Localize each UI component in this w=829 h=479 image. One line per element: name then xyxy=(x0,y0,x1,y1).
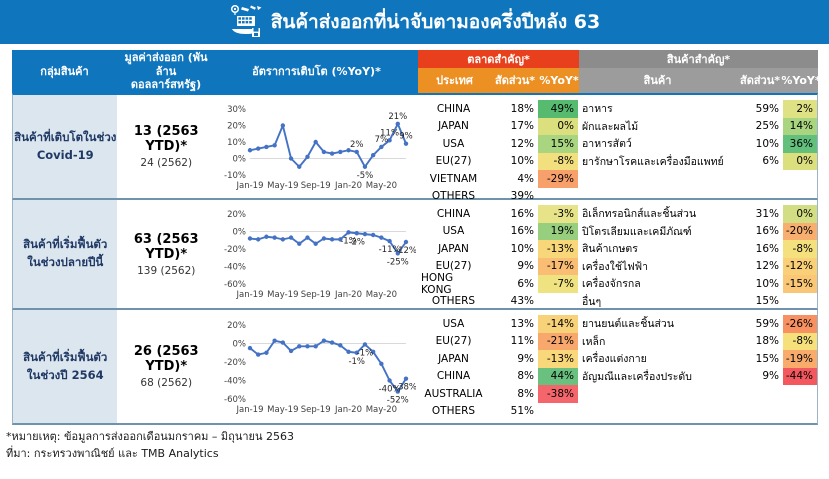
market-country: EU(27) xyxy=(417,333,490,351)
data-point xyxy=(404,376,408,380)
col-header-country: ประเทศ xyxy=(418,68,491,93)
product-share: 6% xyxy=(735,153,783,171)
y-axis-tick: 20% xyxy=(227,210,246,220)
market-share: 11% xyxy=(490,333,538,351)
product-name: อิเล็กทรอนิกส์และชิ้นส่วน xyxy=(578,205,735,223)
product-share: 59% xyxy=(735,100,783,118)
market-yoy xyxy=(538,293,578,311)
product-row: เหล็ก18%-8% xyxy=(578,333,817,351)
growth-chart-cell: 30%20%10%0%-10%2%-5%7%11%21%9%Jan-19May-… xyxy=(215,95,417,198)
market-row: OTHERS43% xyxy=(417,293,578,311)
market-country: CHINA xyxy=(417,368,490,386)
market-share: 8% xyxy=(490,385,538,403)
x-axis-tick: Jan-20 xyxy=(334,405,362,415)
data-point xyxy=(371,153,375,157)
product-row: ยานยนต์และชิ้นส่วน59%-26% xyxy=(578,315,817,333)
market-yoy: -13% xyxy=(538,240,578,258)
market-yoy: -14% xyxy=(538,315,578,333)
market-share: 10% xyxy=(490,240,538,258)
y-axis-tick: -40% xyxy=(224,376,246,386)
data-point-label: 9% xyxy=(399,131,413,141)
data-point xyxy=(363,342,367,346)
product-share: 12% xyxy=(735,258,783,276)
data-point-label: -38% xyxy=(395,382,416,392)
product-share: 31% xyxy=(735,205,783,223)
market-country: JAPAN xyxy=(417,350,490,368)
data-point xyxy=(330,151,334,155)
product-row: อาหาร59%2% xyxy=(578,100,817,118)
market-country: EU(27) xyxy=(417,153,490,171)
x-axis-tick: May-19 xyxy=(267,181,298,191)
data-point xyxy=(256,352,260,356)
export-logistics-icon xyxy=(229,4,263,40)
product-share: 18% xyxy=(735,333,783,351)
product-yoy: -15% xyxy=(783,275,817,293)
x-axis-tick: May-19 xyxy=(267,405,298,415)
table-body: สินค้าที่เติบโตในช่วงCovid-1913 (2563 YT… xyxy=(12,93,818,425)
title-bar: สินค้าส่งออกที่น่าจับตามองครึ่งปีหลัง 63 xyxy=(0,0,829,44)
y-axis-tick: 10% xyxy=(227,138,246,148)
product-group-cell: สินค้าที่เริ่มฟื้นตัวในช่วงปลายปีนี้ xyxy=(13,200,117,308)
product-row: สินค้าเกษตร16%-8% xyxy=(578,240,817,258)
col-header-export-value: มูลค่าส่งออก (พันล้าน ดอลลาร์สหรัฐ) xyxy=(117,50,215,93)
product-group-line1: สินค้าที่เริ่มฟื้นตัว xyxy=(23,236,107,254)
market-share: 4% xyxy=(490,170,538,188)
col-header-product: สินค้า xyxy=(579,68,736,93)
market-country: JAPAN xyxy=(417,118,490,136)
product-name xyxy=(578,170,735,188)
product-name: อาหาร xyxy=(578,100,735,118)
product-yoy: -12% xyxy=(783,258,817,276)
market-share: 9% xyxy=(490,258,538,276)
x-axis-tick: Jan-19 xyxy=(236,405,264,415)
market-country: CHINA xyxy=(417,205,490,223)
product-name: ผักและผลไม้ xyxy=(578,118,735,136)
x-axis-tick: Sep-19 xyxy=(301,290,331,300)
market-share: 51% xyxy=(490,403,538,421)
market-country: JAPAN xyxy=(417,240,490,258)
table-header-row: กลุ่มสินค้า มูลค่าส่งออก (พันล้าน ดอลลาร… xyxy=(12,50,818,93)
export-value-previous: 24 (2562) xyxy=(140,157,192,169)
data-point xyxy=(338,343,342,347)
data-point xyxy=(264,144,268,148)
product-group-line2: Covid-19 xyxy=(37,147,94,165)
export-value-cell: 13 (2563 YTD)*24 (2562) xyxy=(117,95,215,198)
product-name: ปิโตรเลียมและเคมีภัณฑ์ xyxy=(578,223,735,241)
key-products-subtable: ยานยนต์และชิ้นส่วน59%-26%เหล็ก18%-8%เครื… xyxy=(578,310,817,423)
product-name: อาหารสัตว์ xyxy=(578,135,735,153)
col-header-group: กลุ่มสินค้า xyxy=(12,50,117,93)
product-group-line1: สินค้าที่เติบโตในช่วง xyxy=(14,129,116,147)
x-axis-tick: Jan-20 xyxy=(334,290,362,300)
market-yoy: 15% xyxy=(538,135,578,153)
market-yoy: -17% xyxy=(538,258,578,276)
product-name: เครื่องจักรกล xyxy=(578,275,735,293)
market-row: VIETNAM4%-29% xyxy=(417,170,578,188)
export-value-previous: 139 (2562) xyxy=(137,265,195,277)
product-share: 25% xyxy=(735,118,783,136)
data-point xyxy=(272,235,276,239)
data-point xyxy=(371,233,375,237)
x-axis-tick: May-20 xyxy=(366,405,397,415)
y-axis-tick: 20% xyxy=(227,321,246,331)
table-row: สินค้าที่เริ่มฟื้นตัวในช่วงปี 256426 (25… xyxy=(12,310,818,425)
product-group-cell: สินค้าที่เริ่มฟื้นตัวในช่วงปี 2564 xyxy=(13,310,117,423)
market-row: USA12%15% xyxy=(417,135,578,153)
market-country: AUSTRALIA xyxy=(417,385,490,403)
market-share: 17% xyxy=(490,118,538,136)
product-row xyxy=(578,403,817,421)
footnote-line1: *หมายเหตุ: ข้อมูลการส่งออกเดือนมกราคม – … xyxy=(6,428,506,445)
y-axis-tick: 0% xyxy=(233,339,247,349)
product-yoy: -44% xyxy=(783,368,817,386)
market-country: OTHERS xyxy=(417,293,490,311)
growth-line-chart: 20%0%-20%-40%-60%-1%-2%-11%-25%-12%Jan-1… xyxy=(216,206,416,302)
table-row: สินค้าที่เริ่มฟื้นตัวในช่วงปลายปีนี้63 (… xyxy=(12,200,818,310)
product-name: เครื่องแต่งกาย xyxy=(578,350,735,368)
data-point xyxy=(297,164,301,168)
data-point xyxy=(313,139,317,143)
market-yoy: 49% xyxy=(538,100,578,118)
export-value-cell: 26 (2563 YTD)*68 (2562) xyxy=(117,310,215,423)
product-group-line2: ในช่วงปี 2564 xyxy=(27,367,104,385)
data-point xyxy=(248,236,252,240)
product-row: เครื่องแต่งกาย15%-19% xyxy=(578,350,817,368)
market-country: HONG KONG xyxy=(417,275,490,293)
product-name: อัญมณีและเครื่องประดับ xyxy=(578,368,735,386)
export-value-main: 26 (2563 YTD)* xyxy=(117,344,215,374)
y-axis-tick: 20% xyxy=(227,121,246,131)
data-point xyxy=(289,156,293,160)
product-yoy: -8% xyxy=(783,333,817,351)
market-row: CHINA18%49% xyxy=(417,100,578,118)
data-point xyxy=(313,344,317,348)
market-share: 18% xyxy=(490,100,538,118)
product-share: 59% xyxy=(735,315,783,333)
data-point xyxy=(256,146,260,150)
key-markets-subtable: USA13%-14%EU(27)11%-21%JAPAN9%-13%CHINA8… xyxy=(417,310,578,423)
product-row xyxy=(578,385,817,403)
product-share: 16% xyxy=(735,240,783,258)
market-row: CHINA8%44% xyxy=(417,368,578,386)
x-axis-tick: May-20 xyxy=(366,290,397,300)
market-row: EU(27)10%-8% xyxy=(417,153,578,171)
data-point xyxy=(281,237,285,241)
market-share: 13% xyxy=(490,315,538,333)
y-axis-tick: -20% xyxy=(224,245,246,255)
data-point xyxy=(363,164,367,168)
product-row: อิเล็กทรอนิกส์และชิ้นส่วน31%0% xyxy=(578,205,817,223)
data-point xyxy=(256,237,260,241)
export-value-main: 13 (2563 YTD)* xyxy=(117,124,215,154)
export-value-previous: 68 (2562) xyxy=(140,377,192,389)
x-axis-tick: May-19 xyxy=(267,290,298,300)
market-row: JAPAN9%-13% xyxy=(417,350,578,368)
x-axis-tick: Jan-19 xyxy=(236,181,264,191)
market-country: USA xyxy=(417,135,490,153)
market-yoy: -38% xyxy=(538,385,578,403)
data-point xyxy=(305,344,309,348)
market-row: OTHERS51% xyxy=(417,403,578,421)
y-axis-tick: -60% xyxy=(224,395,246,405)
data-point xyxy=(305,154,309,158)
growth-line-chart: 20%0%-20%-40%-60%-1%-1%-40%-52%-38%Jan-1… xyxy=(216,317,416,417)
data-point xyxy=(289,348,293,352)
product-row: อาหารสัตว์10%36% xyxy=(578,135,817,153)
market-yoy: -13% xyxy=(538,350,578,368)
market-yoy: -29% xyxy=(538,170,578,188)
key-products-subtable: อาหาร59%2%ผักและผลไม้25%14%อาหารสัตว์10%… xyxy=(578,95,817,198)
product-row: เครื่องจักรกล10%-15% xyxy=(578,275,817,293)
data-point xyxy=(355,149,359,153)
data-point xyxy=(297,344,301,348)
product-yoy: -8% xyxy=(783,240,817,258)
x-axis-tick: May-20 xyxy=(366,181,397,191)
market-share: 43% xyxy=(490,293,538,311)
product-yoy: 0% xyxy=(783,153,817,171)
export-value-main: 63 (2563 YTD)* xyxy=(117,232,215,262)
product-yoy: 14% xyxy=(783,118,817,136)
product-yoy xyxy=(783,385,817,403)
product-share xyxy=(735,170,783,188)
market-row: EU(27)11%-21% xyxy=(417,333,578,351)
data-point xyxy=(379,235,383,239)
product-name xyxy=(578,385,735,403)
footnote-line2: ที่มา: กระทรวงพาณิชย์ และ TMB Analytics xyxy=(6,445,506,462)
data-point xyxy=(322,236,326,240)
product-group-label: สินค้าสำคัญ* xyxy=(579,50,818,68)
data-point xyxy=(305,235,309,239)
data-point xyxy=(379,144,383,148)
market-row: USA16%19% xyxy=(417,223,578,241)
data-point xyxy=(281,123,285,127)
col-header-market-share: สัดส่วน* xyxy=(491,68,539,93)
data-point xyxy=(404,240,408,244)
col-header-export-value-line2: ดอลลาร์สหรัฐ) xyxy=(117,78,215,92)
y-axis-tick: -10% xyxy=(224,171,246,181)
market-country: VIETNAM xyxy=(417,170,490,188)
data-point xyxy=(387,239,391,243)
market-row: USA13%-14% xyxy=(417,315,578,333)
product-group-cell: สินค้าที่เติบโตในช่วงCovid-19 xyxy=(13,95,117,198)
product-group-line2: ในช่วงปลายปีนี้ xyxy=(27,254,103,272)
product-yoy: 0% xyxy=(783,205,817,223)
product-group-line1: สินค้าที่เริ่มฟื้นตัว xyxy=(23,349,107,367)
product-row xyxy=(578,170,817,188)
market-country: USA xyxy=(417,223,490,241)
col-header-growth: อัตราการเติบโต (%YoY)* xyxy=(215,50,418,93)
market-share: 8% xyxy=(490,368,538,386)
y-axis-tick: -60% xyxy=(224,280,246,290)
data-point xyxy=(404,141,408,145)
data-point xyxy=(313,242,317,246)
product-share xyxy=(735,403,783,421)
table-row: สินค้าที่เติบโตในช่วงCovid-1913 (2563 YT… xyxy=(12,93,818,200)
y-axis-tick: 0% xyxy=(233,154,247,164)
data-point-label: 2% xyxy=(350,139,364,149)
market-share: 6% xyxy=(490,275,538,293)
col-header-market-yoy: %YoY* xyxy=(539,68,579,93)
market-share: 16% xyxy=(490,205,538,223)
market-yoy: -3% xyxy=(538,205,578,223)
product-name xyxy=(578,403,735,421)
data-point xyxy=(322,338,326,342)
data-point-label: -2% xyxy=(348,237,365,247)
y-axis-tick: 0% xyxy=(233,228,247,238)
x-axis-tick: Jan-19 xyxy=(236,290,264,300)
x-axis-tick: Sep-19 xyxy=(301,181,331,191)
product-name: เหล็ก xyxy=(578,333,735,351)
data-point xyxy=(297,242,301,246)
market-row: CHINA16%-3% xyxy=(417,205,578,223)
data-point xyxy=(264,350,268,354)
data-point xyxy=(289,235,293,239)
market-yoy: 19% xyxy=(538,223,578,241)
product-share xyxy=(735,385,783,403)
product-share: 15% xyxy=(735,293,783,311)
market-country: CHINA xyxy=(417,100,490,118)
data-point xyxy=(346,230,350,234)
data-point xyxy=(272,338,276,342)
product-share: 16% xyxy=(735,223,783,241)
col-header-market-group: ตลาดสำคัญ* ประเทศ สัดส่วน* %YoY* xyxy=(418,50,579,93)
data-point xyxy=(248,148,252,152)
product-share: 10% xyxy=(735,275,783,293)
product-yoy xyxy=(783,170,817,188)
market-group-label: ตลาดสำคัญ* xyxy=(418,50,579,68)
data-point xyxy=(396,121,400,125)
export-value-cell: 63 (2563 YTD)*139 (2562) xyxy=(117,200,215,308)
data-point xyxy=(379,361,383,365)
product-share: 9% xyxy=(735,368,783,386)
product-name: เครื่องใช้ไฟฟ้า xyxy=(578,258,735,276)
data-point-label: -1% xyxy=(357,348,374,358)
growth-line-chart: 30%20%10%0%-10%2%-5%7%11%21%9%Jan-19May-… xyxy=(216,101,416,193)
key-markets-subtable: CHINA18%49%JAPAN17%0%USA12%15%EU(27)10%-… xyxy=(417,95,578,198)
y-axis-tick: -40% xyxy=(224,263,246,273)
market-share: 9% xyxy=(490,350,538,368)
x-axis-tick: Sep-19 xyxy=(301,405,331,415)
product-yoy: -19% xyxy=(783,350,817,368)
x-axis-tick: Jan-20 xyxy=(334,181,362,191)
product-name: สินค้าเกษตร xyxy=(578,240,735,258)
y-axis-tick: -20% xyxy=(224,358,246,368)
market-yoy xyxy=(538,403,578,421)
market-row: JAPAN10%-13% xyxy=(417,240,578,258)
data-point xyxy=(346,349,350,353)
product-row: ปิโตรเลียมและเคมีภัณฑ์16%-20% xyxy=(578,223,817,241)
market-yoy: -7% xyxy=(538,275,578,293)
market-row: AUSTRALIA8%-38% xyxy=(417,385,578,403)
growth-chart-cell: 20%0%-20%-40%-60%-1%-1%-40%-52%-38%Jan-1… xyxy=(215,310,417,423)
product-name: ยารักษาโรคและเครื่องมือแพทย์ xyxy=(578,153,735,171)
col-header-product-yoy: %YoY* xyxy=(784,68,818,93)
data-point xyxy=(355,231,359,235)
product-yoy: -26% xyxy=(783,315,817,333)
product-row: เครื่องใช้ไฟฟ้า12%-12% xyxy=(578,258,817,276)
data-point-label: 11% xyxy=(380,128,399,138)
footnote: *หมายเหตุ: ข้อมูลการส่งออกเดือนมกราคม – … xyxy=(6,428,506,462)
data-point xyxy=(363,232,367,236)
market-row: JAPAN17%0% xyxy=(417,118,578,136)
market-yoy: 0% xyxy=(538,118,578,136)
data-point xyxy=(264,235,268,239)
product-share: 10% xyxy=(735,135,783,153)
product-share: 15% xyxy=(735,350,783,368)
data-point xyxy=(322,149,326,153)
product-name: อื่นๆ xyxy=(578,293,735,311)
product-row: อัญมณีและเครื่องประดับ9%-44% xyxy=(578,368,817,386)
market-share: 12% xyxy=(490,135,538,153)
data-point xyxy=(330,237,334,241)
data-point xyxy=(248,345,252,349)
market-share: 16% xyxy=(490,223,538,241)
data-table: กลุ่มสินค้า มูลค่าส่งออก (พันล้าน ดอลลาร… xyxy=(12,50,818,420)
infographic-page: สินค้าส่งออกที่น่าจับตามองครึ่งปีหลัง 63… xyxy=(0,0,829,479)
product-row: ยารักษาโรคและเครื่องมือแพทย์6%0% xyxy=(578,153,817,171)
key-products-subtable: อิเล็กทรอนิกส์และชิ้นส่วน31%0%ปิโตรเลียม… xyxy=(578,200,817,308)
key-markets-subtable: CHINA16%-3%USA16%19%JAPAN10%-13%EU(27)9%… xyxy=(417,200,578,308)
data-point xyxy=(330,340,334,344)
product-name: ยานยนต์และชิ้นส่วน xyxy=(578,315,735,333)
product-yoy: 2% xyxy=(783,100,817,118)
market-share: 10% xyxy=(490,153,538,171)
product-row: ผักและผลไม้25%14% xyxy=(578,118,817,136)
market-country: OTHERS xyxy=(417,403,490,421)
y-axis-tick: 30% xyxy=(227,105,246,115)
product-row: อื่นๆ15% xyxy=(578,293,817,311)
growth-chart-cell: 20%0%-20%-40%-60%-1%-2%-11%-25%-12%Jan-1… xyxy=(215,200,417,308)
market-yoy: 44% xyxy=(538,368,578,386)
market-country: USA xyxy=(417,315,490,333)
market-row: HONG KONG6%-7% xyxy=(417,275,578,293)
data-point-label: 21% xyxy=(388,111,407,121)
market-yoy: -8% xyxy=(538,153,578,171)
data-point xyxy=(387,378,391,382)
product-yoy: 36% xyxy=(783,135,817,153)
col-header-product-share: สัดส่วน* xyxy=(736,68,784,93)
data-point-label: -25% xyxy=(387,257,409,267)
data-point-label: -12% xyxy=(395,246,416,256)
market-yoy: -21% xyxy=(538,333,578,351)
product-yoy xyxy=(783,293,817,311)
page-title: สินค้าส่งออกที่น่าจับตามองครึ่งปีหลัง 63 xyxy=(271,7,601,37)
data-point xyxy=(272,143,276,147)
data-point-label: -5% xyxy=(357,170,374,180)
product-yoy xyxy=(783,403,817,421)
data-point xyxy=(281,340,285,344)
col-header-product-group: สินค้าสำคัญ* สินค้า สัดส่วน* %YoY* xyxy=(579,50,818,93)
col-header-export-value-line1: มูลค่าส่งออก (พันล้าน xyxy=(117,51,215,79)
data-point xyxy=(338,149,342,153)
product-yoy: -20% xyxy=(783,223,817,241)
